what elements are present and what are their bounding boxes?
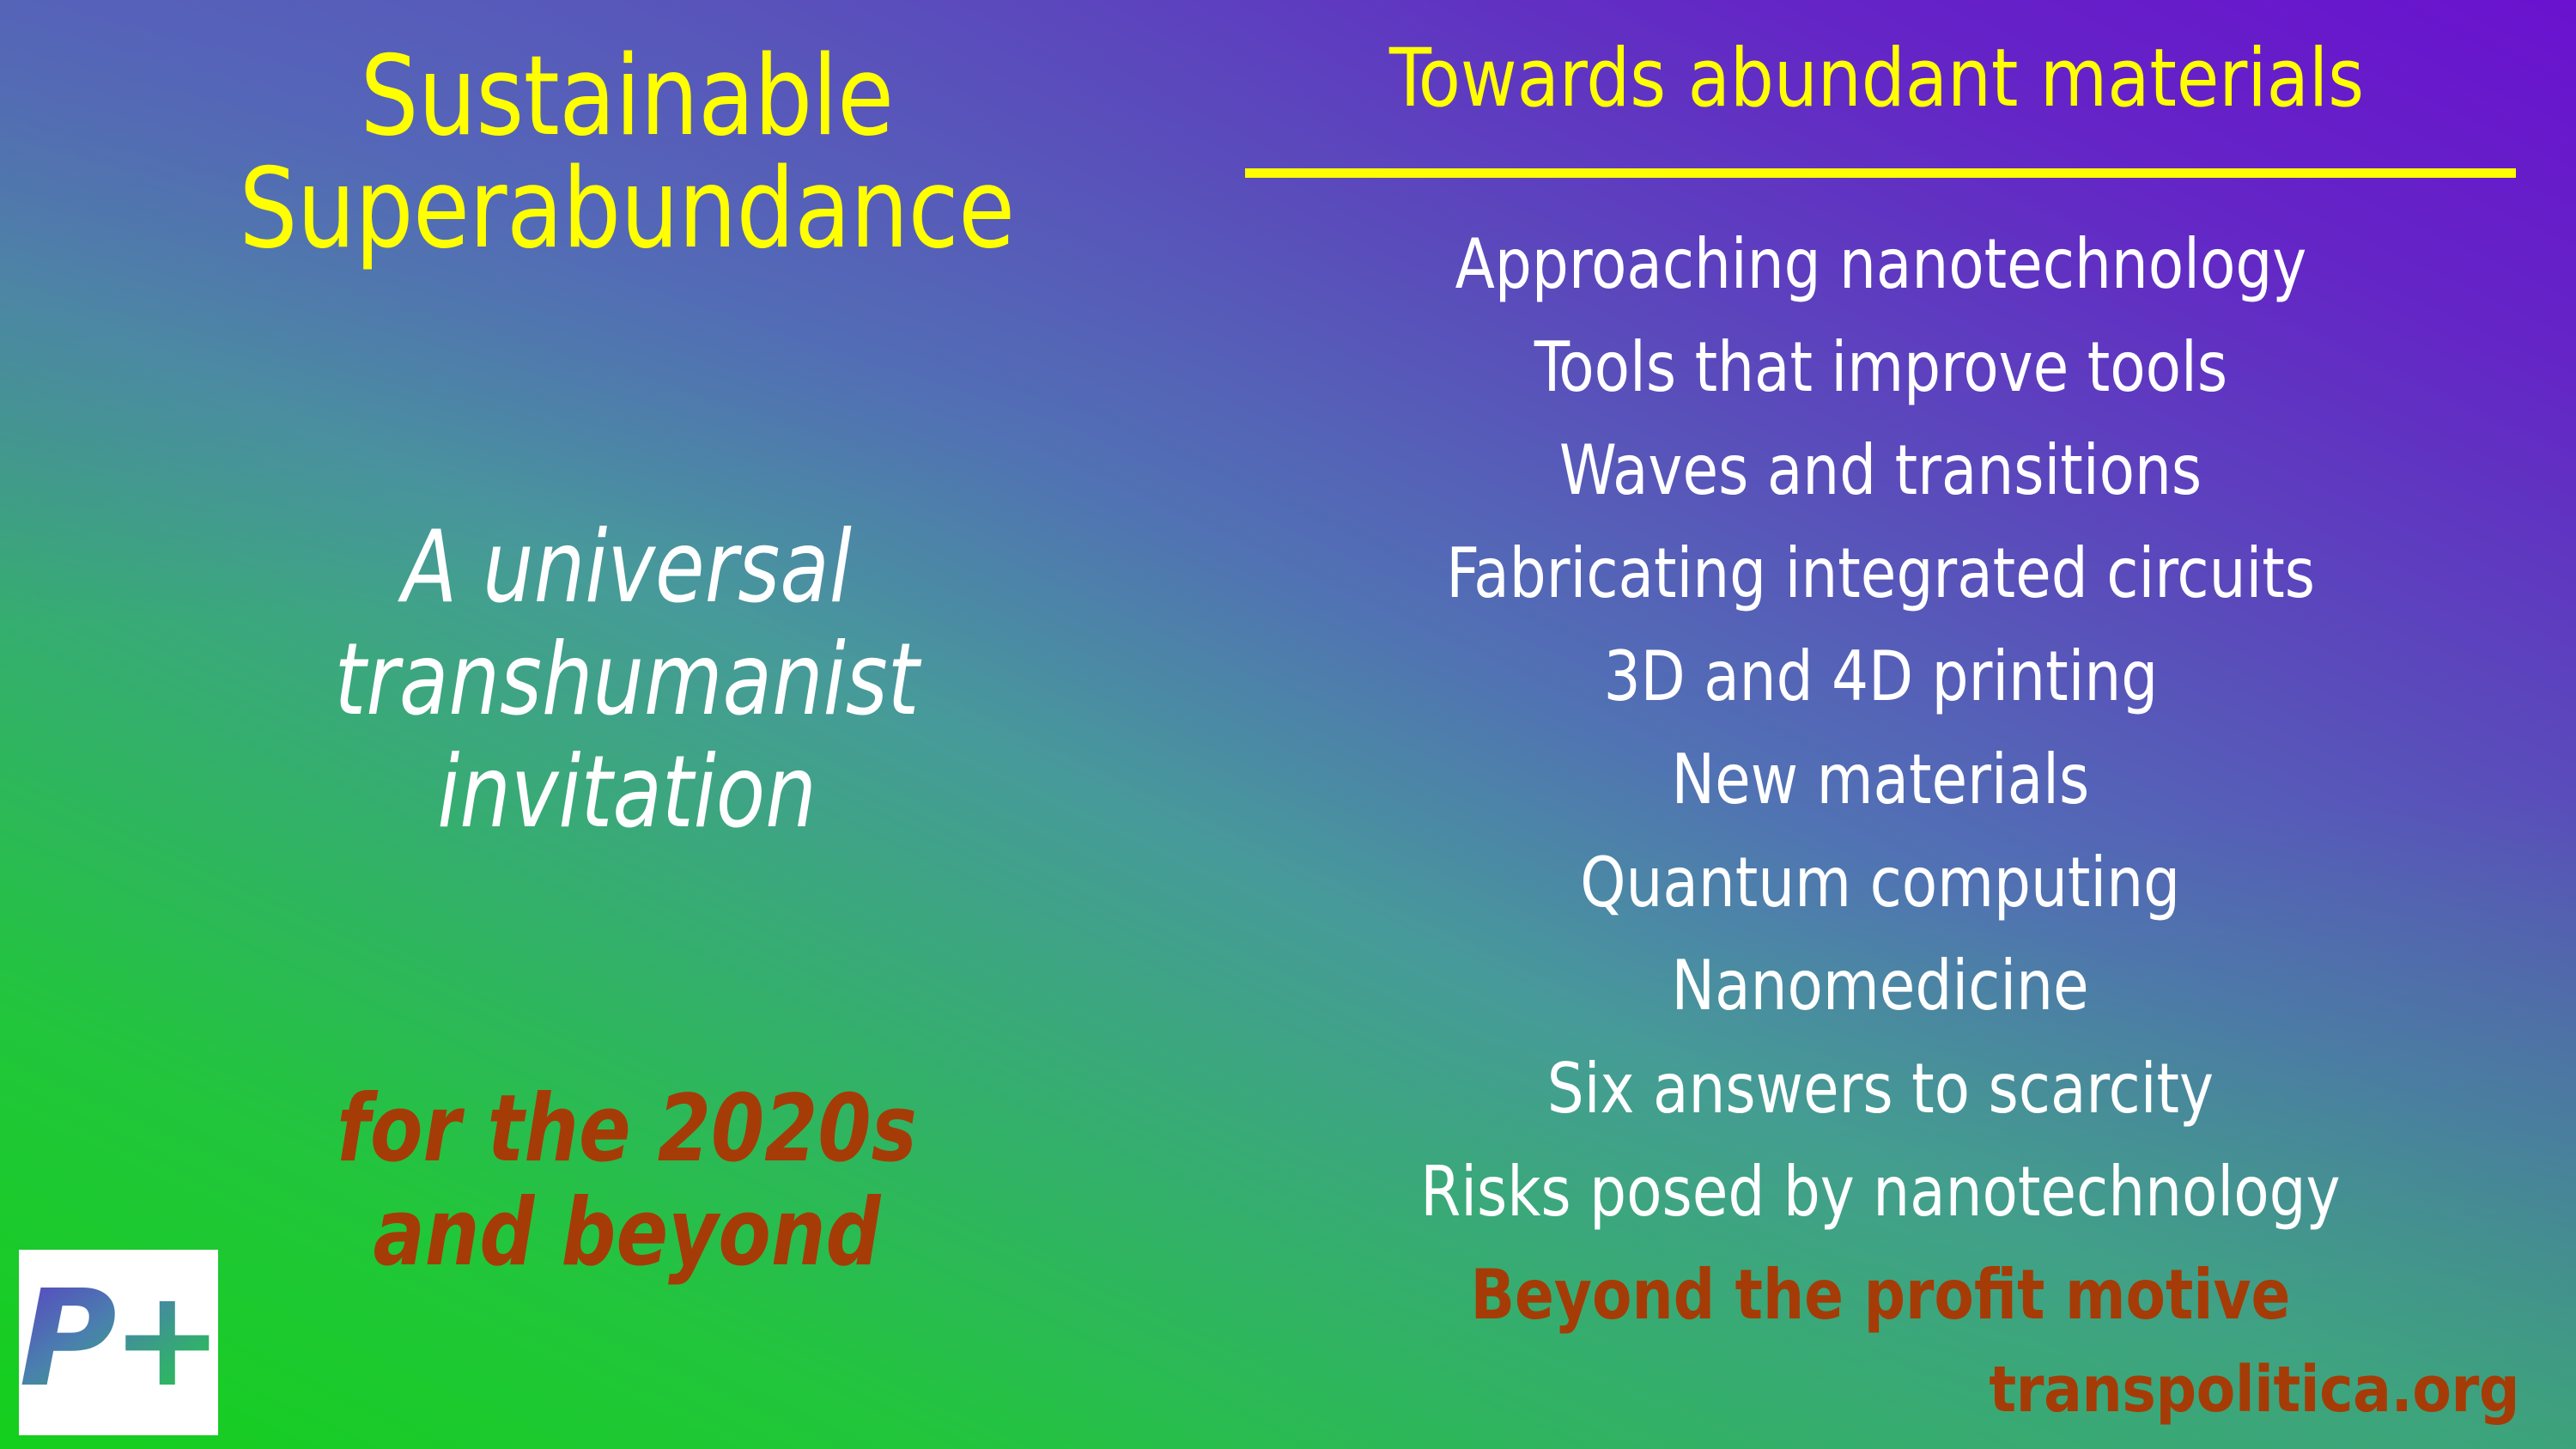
subtitle-line-3: invitation xyxy=(63,736,1191,849)
topic-label: Risks posed by nanotechnology xyxy=(1420,1141,2340,1244)
list-item: Six answers to scarcity xyxy=(1236,1038,2524,1141)
topic-label: Fabricating integrated circuits xyxy=(1446,522,2315,625)
topic-label: Waves and transitions xyxy=(1559,419,2202,522)
list-item: Tools that improve tools xyxy=(1236,316,2524,419)
list-item: New materials xyxy=(1236,728,2524,831)
tagline-line-1: for the 2020s xyxy=(50,1078,1203,1182)
subtitle-line-2: transhumanist xyxy=(63,624,1191,736)
left-column: Sustainable Superabundance A universal t… xyxy=(0,0,1254,1449)
title-line-2: Superabundance xyxy=(44,154,1210,266)
topic-label: Tools that improve tools xyxy=(1534,316,2227,419)
topic-list: Approaching nanotechnology Tools that im… xyxy=(1236,213,2524,1347)
topic-label: Beyond the profit motive xyxy=(1471,1244,2291,1347)
section-header-underline xyxy=(1245,168,2516,178)
list-item-highlighted: Beyond the profit motive xyxy=(1236,1244,2524,1347)
logo: P+ xyxy=(19,1250,218,1435)
topic-label: Approaching nanotechnology xyxy=(1455,213,2306,316)
topic-label: Quantum computing xyxy=(1581,831,2181,935)
list-item: Fabricating integrated circuits xyxy=(1236,522,2524,625)
subtitle-line-1: A universal xyxy=(63,511,1191,624)
tagline-line-2: and beyond xyxy=(50,1182,1203,1286)
site-url: transpolitica.org xyxy=(1989,1358,2519,1422)
list-item: Nanomedicine xyxy=(1236,935,2524,1038)
list-item: 3D and 4D printing xyxy=(1236,625,2524,728)
list-item: Quantum computing xyxy=(1236,831,2524,935)
page-title: Sustainable Superabundance xyxy=(0,41,1254,265)
subtitle: A universal transhumanist invitation xyxy=(0,511,1254,849)
right-column: Towards abundant materials Approaching n… xyxy=(1236,0,2550,1449)
title-line-1: Sustainable xyxy=(44,41,1210,154)
topic-label: New materials xyxy=(1672,728,2090,831)
topic-label: Nanomedicine xyxy=(1672,935,2089,1038)
topic-label: Six answers to scarcity xyxy=(1547,1038,2214,1141)
list-item: Waves and transitions xyxy=(1236,419,2524,522)
section-header-text: Towards abundant materials xyxy=(1388,39,2363,119)
logo-text: P+ xyxy=(19,1272,217,1414)
presentation-slide: Sustainable Superabundance A universal t… xyxy=(0,0,2576,1449)
list-item: Risks posed by nanotechnology xyxy=(1236,1141,2524,1244)
list-item: Approaching nanotechnology xyxy=(1236,213,2524,316)
section-header: Towards abundant materials xyxy=(1236,39,2516,119)
topic-label: 3D and 4D printing xyxy=(1603,625,2158,728)
